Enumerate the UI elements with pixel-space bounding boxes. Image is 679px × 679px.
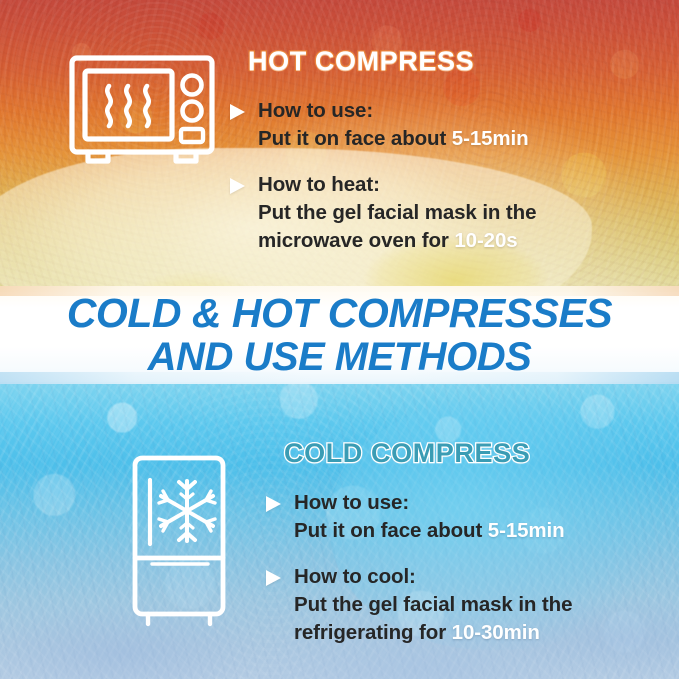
cold-compress-heading: COLD COMPRESS [284,440,665,467]
hot-how-to-heat-item: How to heat: Put the gel facial mask in … [230,171,662,255]
cold-how-to-cool-label: How to cool: [294,563,665,591]
hot-heat-detail-line-2: microwave oven for 10-20s [258,227,662,255]
triangle-bullet-icon [266,496,281,512]
hot-use-duration-value: 5-15min [452,127,529,150]
hot-how-to-use-detail: Put it on face about 5-15min [258,125,662,153]
main-title-line-1: COLD & HOT COMPRESSES [67,293,612,335]
cold-use-duration-value: 5-15min [488,519,565,542]
hot-how-to-heat-label: How to heat: [258,171,662,199]
hot-how-to-heat-lines: How to heat: Put the gel facial mask in … [258,171,662,255]
cold-use-detail-prefix: Put it on face about [294,519,488,542]
hot-how-to-use-lines: How to use: Put it on face about 5-15min [258,97,662,153]
cold-how-to-use-detail: Put it on face about 5-15min [294,517,665,545]
hot-compress-section: HOT COMPRESS How to use: Put it on face … [62,48,662,254]
hot-heat-detail-prefix-2: microwave oven for [258,229,454,252]
triangle-bullet-icon [230,104,245,120]
hot-compress-heading: HOT COMPRESS [248,48,662,75]
triangle-bullet-icon [230,178,245,194]
infographic-poster: HOT COMPRESS How to use: Put it on face … [0,0,679,679]
hot-heat-detail-line-1: Put the gel facial mask in the [258,199,662,227]
cold-how-to-use-lines: How to use: Put it on face about 5-15min [294,489,665,545]
cold-how-to-cool-lines: How to cool: Put the gel facial mask in … [294,563,665,647]
cold-cool-duration-value: 10-30min [452,621,540,644]
hot-compress-text-column: HOT COMPRESS How to use: Put it on face … [222,48,662,254]
hot-use-detail-prefix: Put it on face about [258,127,452,150]
cold-compress-text-column: COLD COMPRESS How to use: Put it on face… [250,440,665,646]
cold-how-to-use-label: How to use: [294,489,665,517]
hot-heat-duration-value: 10-20s [454,229,517,252]
cold-compress-section: COLD COMPRESS How to use: Put it on face… [120,440,665,646]
main-title-banner: COLD & HOT COMPRESSES AND USE METHODS [0,286,679,384]
triangle-bullet-icon [266,570,281,586]
cold-cool-detail-line-2: refrigerating for 10-30min [294,619,665,647]
hot-how-to-use-label: How to use: [258,97,662,125]
hot-how-to-use-item: How to use: Put it on face about 5-15min [230,97,662,153]
cold-how-to-cool-item: How to cool: Put the gel facial mask in … [266,563,665,647]
refrigerator-snowflake-icon [120,440,250,632]
cold-cool-detail-line-1: Put the gel facial mask in the [294,591,665,619]
cold-cool-detail-prefix-2: refrigerating for [294,621,452,644]
microwave-oven-icon [62,48,222,166]
main-title-line-2: AND USE METHODS [148,337,532,378]
cold-how-to-use-item: How to use: Put it on face about 5-15min [266,489,665,545]
